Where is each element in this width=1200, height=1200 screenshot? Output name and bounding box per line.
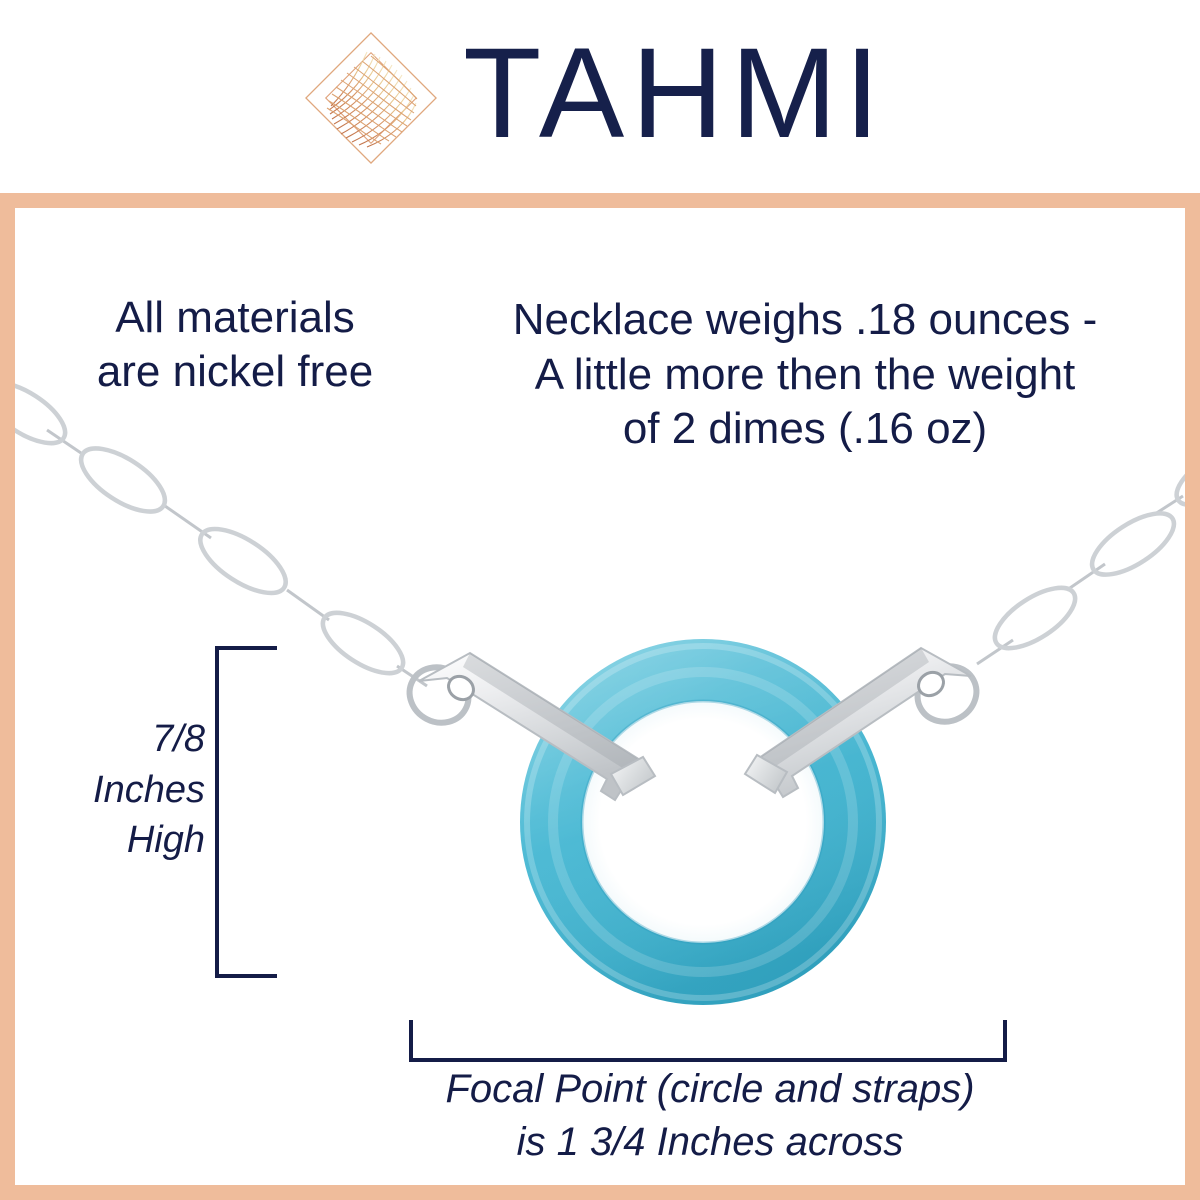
silver-strap-left	[419, 653, 655, 800]
product-info-card: TAHMI	[0, 0, 1200, 1200]
weight-note-line-2: A little more then the weight	[435, 348, 1175, 403]
weight-note-line-1: Necklace weighs .18 ounces -	[435, 293, 1175, 348]
materials-note-line-1: All materials	[45, 291, 425, 345]
width-measure-bracket	[409, 1020, 1007, 1062]
width-measurement-label: Focal Point (circle and straps) is 1 3/4…	[315, 1063, 1105, 1169]
materials-note-line-2: are nickel free	[45, 345, 425, 399]
height-measure-bracket	[215, 646, 277, 978]
height-measurement-label: 7/8 Inches High	[45, 714, 205, 866]
height-label-line-2: Inches	[45, 765, 205, 816]
weight-note: Necklace weighs .18 ounces - A little mo…	[435, 293, 1175, 457]
height-label-line-1: 7/8	[45, 714, 205, 765]
width-label-line-2: is 1 3/4 Inches across	[315, 1116, 1105, 1169]
product-photo-canvas: All materials are nickel free Necklace w…	[15, 208, 1185, 1185]
width-label-line-1: Focal Point (circle and straps)	[315, 1063, 1105, 1116]
turquoise-ring-pendant	[520, 639, 886, 1005]
weight-note-line-3: of 2 dimes (.16 oz)	[435, 402, 1175, 457]
silver-paperclip-chain-right	[908, 436, 1185, 732]
brand-header: TAHMI	[0, 0, 1200, 195]
content-frame: All materials are nickel free Necklace w…	[0, 193, 1200, 1200]
height-label-line-3: High	[45, 815, 205, 866]
silver-strap-right	[745, 648, 971, 797]
diamond-woven-lines-logo-icon	[297, 24, 445, 172]
logo-lockup: TAHMI	[297, 24, 887, 172]
brand-name: TAHMI	[463, 30, 887, 158]
materials-note: All materials are nickel free	[45, 291, 425, 398]
